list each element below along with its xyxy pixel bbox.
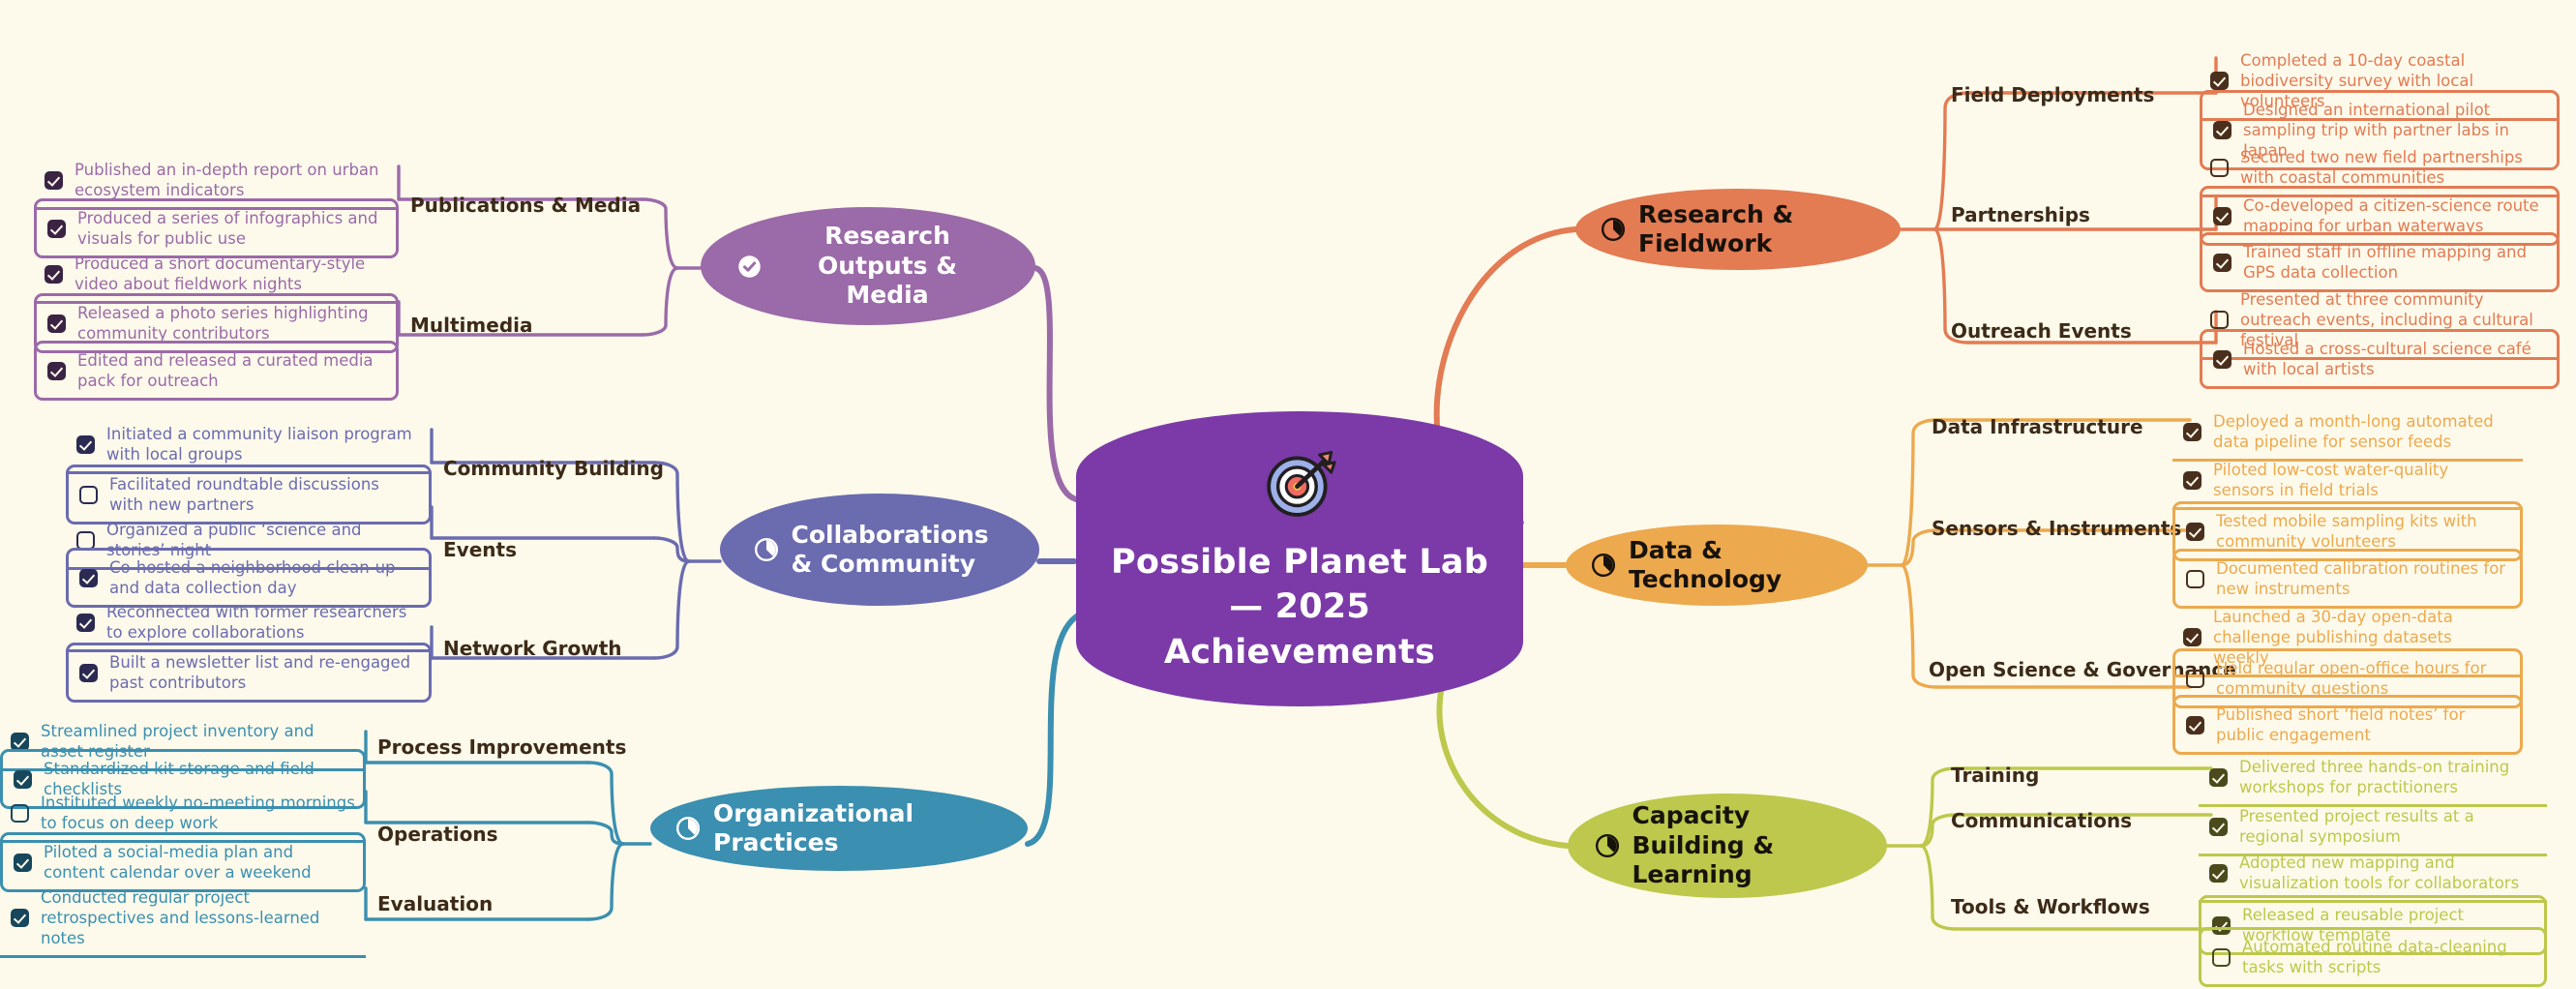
branch-label: Research & Fieldwork [1638,200,1875,259]
checkbox-checked[interactable] [2183,628,2202,646]
checkbox-unchecked[interactable] [2210,311,2229,329]
leaf-text: Hosted a cross-cultural science café wit… [2243,339,2546,379]
leaf-item[interactable]: Conducted regular project retrospectives… [0,881,366,958]
sublabel-network-growth: Network Growth [443,637,622,660]
checkbox-checked[interactable] [2209,768,2228,787]
leaf-text: Conducted regular project retrospectives… [41,887,355,948]
leaf-text: Released a photo series highlighting com… [77,303,385,344]
leaf-text: Edited and released a curated media pack… [77,350,385,391]
center-node[interactable]: Possible Planet Lab — 2025 Achievements [1076,411,1523,706]
leaf-text: Co-hosted a neighborhood clean-up and da… [109,557,418,598]
branch-label: Data & Technology [1629,536,1842,595]
sublabel-outreach-events: Outreach Events [1951,319,2132,343]
center-title: Possible Planet Lab — 2025 Achievements [1111,540,1488,674]
checkbox-checked[interactable] [2213,207,2232,225]
sublabel-community-building: Community Building [443,457,664,480]
leaf-item[interactable]: Hosted a cross-cultural science café wit… [2200,329,2560,389]
branch-label: Research Outputs & Media [775,222,1000,311]
leaf-item[interactable]: Edited and released a curated media pack… [34,341,399,401]
leaf-text: Trained staff in offline mapping and GPS… [2243,242,2546,283]
sublabel-operations: Operations [377,823,498,846]
checkbox-checked[interactable] [2186,523,2204,541]
checkbox-checked[interactable] [45,171,63,190]
sublabel-partnerships: Partnerships [1951,203,2090,226]
checkbox-checked[interactable] [2213,121,2232,139]
checkbox-unchecked[interactable] [11,804,29,823]
checkbox-checked[interactable] [79,664,98,682]
branch-node-collaborations-community[interactable]: Collaborations & Community [720,494,1039,606]
checkbox-checked[interactable] [2209,864,2228,883]
sublabel-publications-media: Publications & Media [410,194,641,217]
leaf-text: Reconnected with former researchers to e… [106,602,421,643]
checkbox-checked[interactable] [11,909,29,927]
branch-node-research-outputs-media[interactable]: Research Outputs & Media [701,207,1035,325]
branch-label: Capacity Building & Learning [1632,801,1861,890]
checkbox-checked[interactable] [47,220,66,238]
sublabel-tools-workflows: Tools & Workflows [1951,895,2150,918]
pie-chart-icon [1595,833,1620,858]
sublabel-communications: Communications [1951,809,2132,832]
checkbox-unchecked[interactable] [76,531,95,550]
leaf-text: Presented project results at a regional … [2239,806,2536,847]
leaf-text: Published an in-depth report on urban ec… [75,160,388,200]
leaf-text: Piloted a social-media plan and content … [44,842,352,883]
checkbox-checked[interactable] [47,362,66,380]
sublabel-process-improvements: Process Improvements [377,735,626,759]
checkbox-checked[interactable] [11,733,29,751]
checkbox-checked[interactable] [76,614,95,632]
leaf-text: Published short ‘field notes’ for public… [2216,704,2509,745]
checkbox-unchecked[interactable] [2186,670,2204,688]
checkbox-checked[interactable] [2213,254,2232,272]
sublabel-training: Training [1951,764,2039,787]
checkbox-unchecked[interactable] [2210,159,2229,177]
mindmap-canvas: Possible Planet Lab — 2025 Achievements … [0,0,2576,989]
leaf-text: Instituted weekly no-meeting mornings to… [41,793,355,833]
leaf-item[interactable]: Automated routine data-cleaning tasks wi… [2199,927,2547,987]
checkbox-checked[interactable] [14,854,32,872]
leaf-text: Documented calibration routines for new … [2216,558,2509,599]
sublabel-field-deployments: Field Deployments [1951,83,2154,106]
leaf-text: Held regular open-office hours for commu… [2216,658,2509,699]
leaf-text: Initiated a community liaison program wi… [106,424,421,465]
leaf-item[interactable]: Published short ‘field notes’ for public… [2172,695,2523,755]
leaf-text: Produced a series of infographics and vi… [77,208,385,249]
checkbox-unchecked[interactable] [2212,948,2231,967]
sublabel-events: Events [443,538,517,561]
leaf-text: Deployed a month-long automated data pip… [2213,411,2512,452]
sublabel-sensors-instruments: Sensors & Instruments [1932,517,2181,540]
checkbox-checked[interactable] [2183,471,2202,490]
leaf-item[interactable]: Built a newsletter list and re-engaged p… [66,643,432,703]
pie-chart-icon [675,816,701,841]
checkbox-checked[interactable] [2209,818,2228,836]
leaf-text: Delivered three hands-on training worksh… [2239,757,2536,797]
checkbox-checked[interactable] [2186,716,2204,734]
leaf-text: Produced a short documentary-style video… [75,254,388,294]
pie-chart-icon [1591,553,1616,578]
checkbox-checked[interactable] [2213,350,2232,369]
leaf-text: Co-developed a citizen-science route map… [2243,195,2546,236]
branch-node-data-technology[interactable]: Data & Technology [1566,524,1868,606]
sublabel-evaluation: Evaluation [377,892,493,915]
checkbox-checked[interactable] [79,569,98,587]
checkbox-unchecked[interactable] [79,486,98,504]
pie-chart-icon [1601,217,1626,242]
leaf-text: Built a newsletter list and re-engaged p… [109,652,418,693]
branch-label: Collaborations & Community [792,521,1006,580]
leaf-text: Facilitated roundtable discussions with … [109,474,418,515]
leaf-text: Tested mobile sampling kits with communi… [2216,511,2509,552]
branch-node-research-fieldwork[interactable]: Research & Fieldwork [1575,189,1901,270]
pie-chart-icon [754,537,779,562]
checkbox-checked[interactable] [2210,72,2229,90]
check-circle-icon [736,254,763,280]
leaf-text: Automated routine data-cleaning tasks wi… [2242,937,2533,977]
branch-node-organizational-practices[interactable]: Organizational Practices [650,786,1028,871]
bullseye-target-icon [1258,443,1341,526]
leaf-text: Secured two new field partnerships with … [2240,147,2549,188]
checkbox-checked[interactable] [45,265,63,284]
checkbox-checked[interactable] [47,315,66,333]
checkbox-unchecked[interactable] [2186,570,2204,588]
branch-label: Organizational Practices [713,799,1003,858]
sublabel-multimedia: Multimedia [410,314,532,337]
leaf-text: Piloted low-cost water-quality sensors i… [2213,460,2512,500]
sublabel-data-infrastructure: Data Infrastructure [1932,415,2143,438]
checkbox-checked[interactable] [2183,423,2202,441]
leaf-text: Adopted new mapping and visualization to… [2239,853,2536,893]
checkbox-checked[interactable] [76,435,95,454]
branch-node-capacity-building-learning[interactable]: Capacity Building & Learning [1568,794,1887,898]
